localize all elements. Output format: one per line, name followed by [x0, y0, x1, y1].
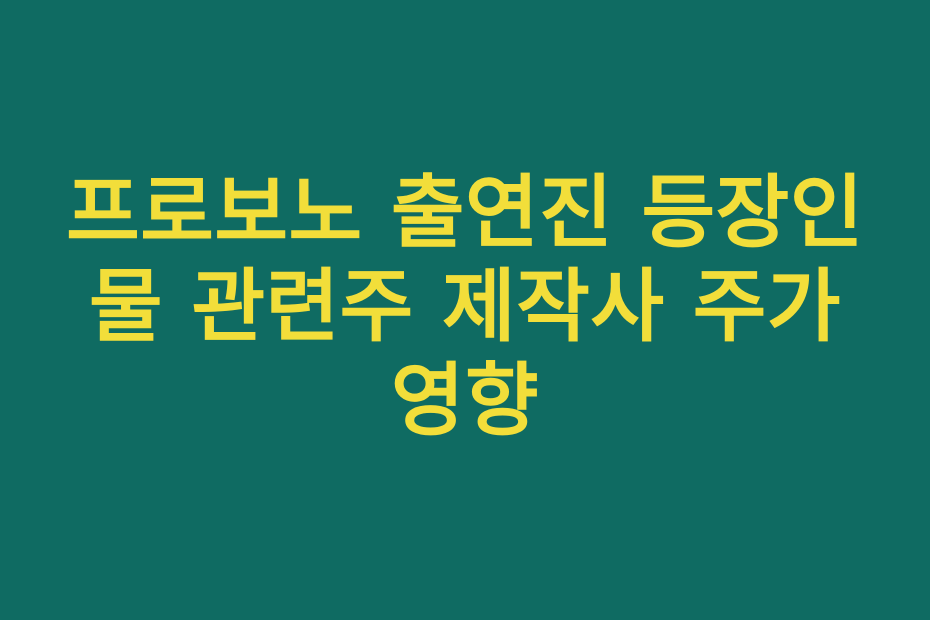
- title-text-block: 프로보노 출연진 등장인 물 관련주 제작사 주가 영향: [35, 166, 895, 448]
- title-line-3: 영향: [45, 354, 885, 448]
- thumbnail-card: 프로보노 출연진 등장인 물 관련주 제작사 주가 영향: [0, 0, 930, 620]
- title-line-2: 물 관련주 제작사 주가: [45, 260, 885, 354]
- title-line-1: 프로보노 출연진 등장인: [45, 166, 885, 260]
